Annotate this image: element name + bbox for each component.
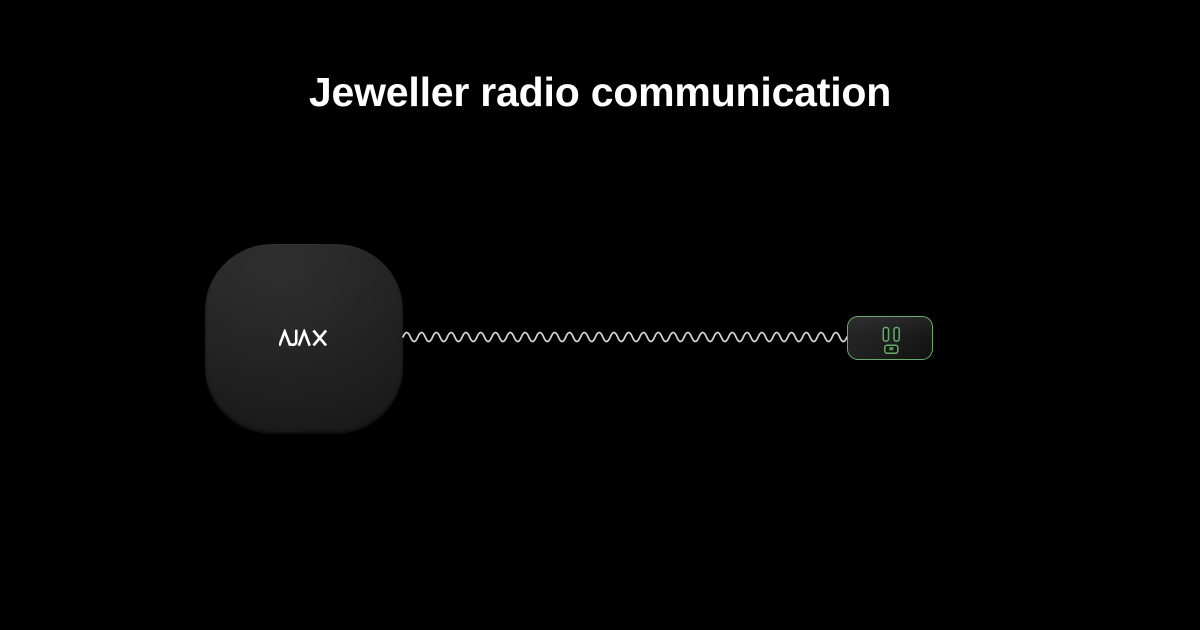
ajax-wordmark-icon bbox=[205, 326, 403, 348]
page-title: Jeweller radio communication bbox=[0, 68, 1200, 116]
radio-wave-icon bbox=[398, 316, 850, 360]
illustration-canvas: Jeweller radio communication bbox=[0, 0, 1200, 630]
hub-device bbox=[205, 244, 403, 434]
socket-face-icon bbox=[848, 317, 933, 360]
smart-socket-device bbox=[847, 316, 933, 360]
